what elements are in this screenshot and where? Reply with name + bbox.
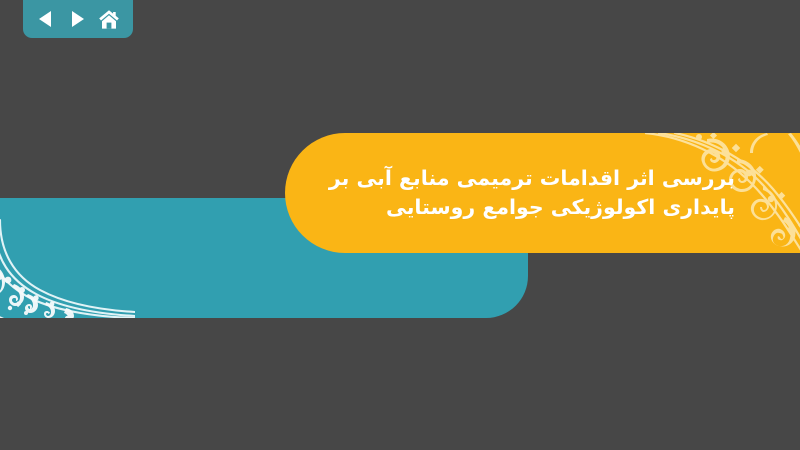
title-line-2: پایداری اکولوژیکی جوامع روستایی (325, 193, 735, 222)
next-button[interactable] (64, 6, 90, 32)
slide-canvas: بررسی اثر اقدامات ترمیمی منابع آبی بر پا… (0, 0, 800, 450)
navigation-bar (23, 0, 133, 38)
page-title: بررسی اثر اقدامات ترمیمی منابع آبی بر پا… (285, 164, 800, 222)
arabesque-corner-ornament-teal (0, 218, 135, 318)
home-icon (98, 9, 120, 30)
home-button[interactable] (96, 6, 122, 32)
triangle-left-icon (37, 10, 54, 28)
triangle-right-icon (69, 10, 86, 28)
previous-button[interactable] (32, 6, 58, 32)
title-line-1: بررسی اثر اقدامات ترمیمی منابع آبی بر (325, 164, 735, 193)
orange-banner: بررسی اثر اقدامات ترمیمی منابع آبی بر پا… (285, 133, 800, 253)
